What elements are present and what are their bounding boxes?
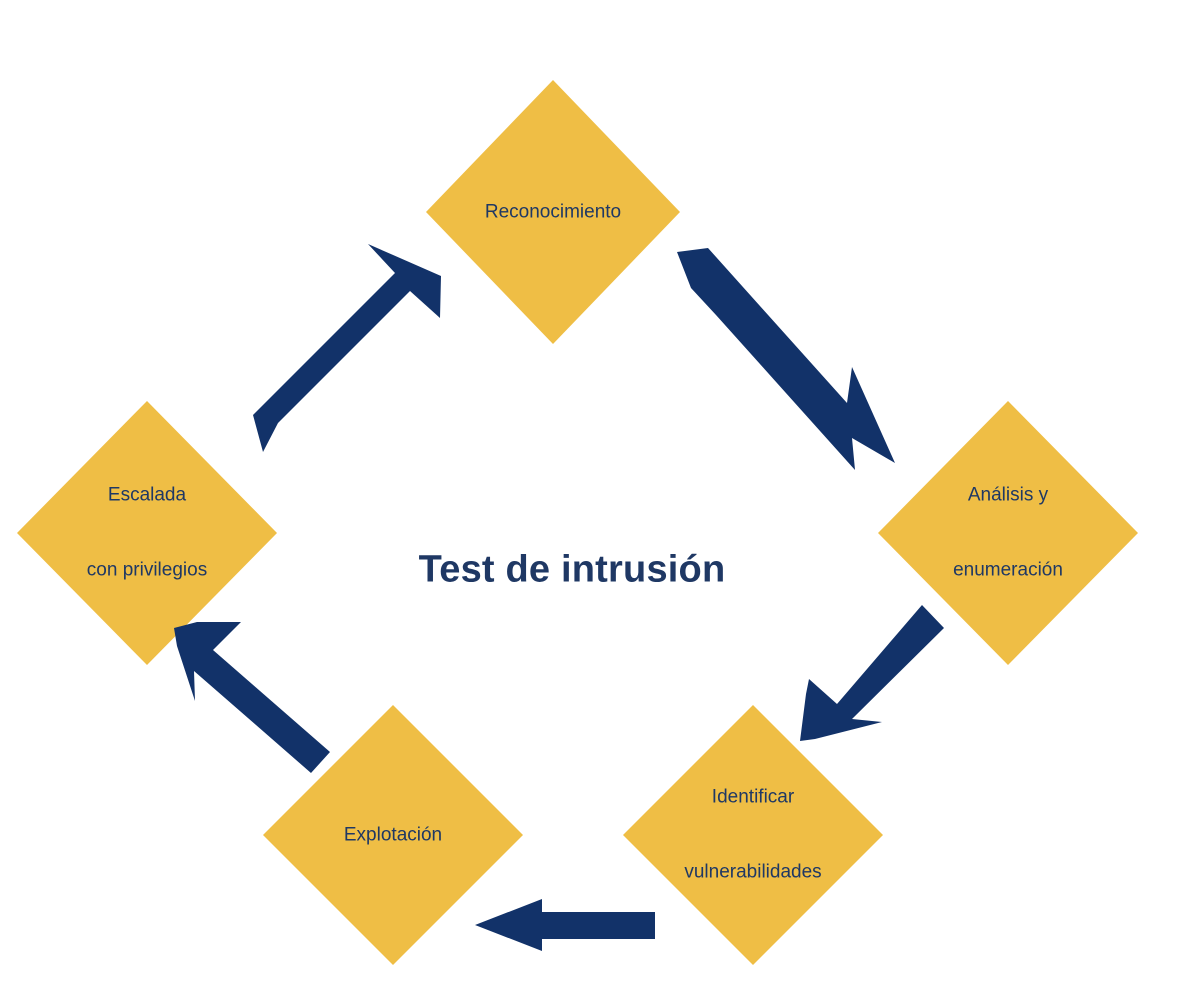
arrow-analisis-to-identificar (800, 605, 944, 741)
diagram-center-title: Test de intrusión (419, 549, 726, 592)
arrow-identificar-to-explotacion (475, 899, 655, 951)
arrow-escalada-to-reconocimiento (253, 244, 441, 452)
diagram-canvas (0, 0, 1200, 988)
node-shape-escalada-con-privilegios[interactable] (17, 401, 277, 665)
diagram-nodes (17, 80, 1138, 965)
node-shape-reconocimiento[interactable] (426, 80, 680, 344)
arrow-reconocimiento-to-analisis (677, 248, 895, 470)
penetration-test-cycle-diagram: Reconocimiento Análisis y enumeración Id… (0, 0, 1200, 988)
arrow-explotacion-to-escalada (174, 622, 330, 773)
node-shape-identificar-vulnerabilidades[interactable] (623, 705, 883, 965)
